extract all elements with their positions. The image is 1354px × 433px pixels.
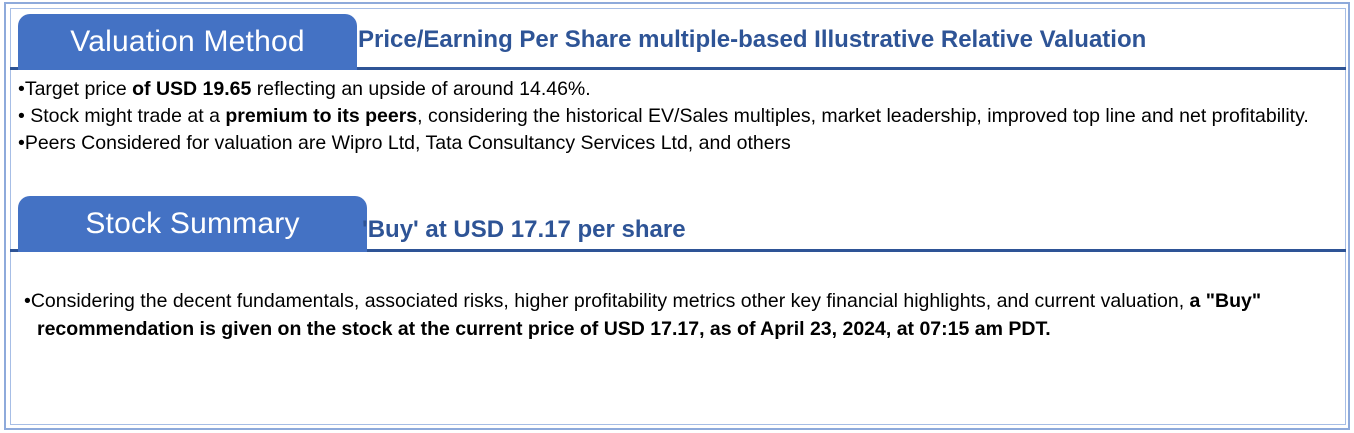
bullet-item: •Considering the decent fundamentals, as… [24, 287, 1332, 343]
bullet-marker-icon: • [18, 105, 25, 127]
bullet-item: •Target price of USD 19.65 reflecting an… [18, 76, 1338, 102]
bullet-marker-icon: • [18, 132, 25, 154]
section-tab-valuation-method: Valuation Method [18, 14, 357, 70]
bullet-text-emphasis: premium to its peers [225, 105, 417, 127]
bullet-text: Stock might trade at a [25, 105, 226, 127]
stock-summary-body: •Considering the decent fundamentals, as… [10, 255, 1346, 425]
bullet-text: reflecting an upside of around 14.46%. [251, 78, 590, 100]
bullet-text: Target price [25, 78, 132, 100]
bullet-item: • Stock might trade at a premium to its … [18, 103, 1338, 129]
stock-summary-title: 'Buy' at USD 17.17 per share [362, 216, 686, 244]
bullet-marker-icon: • [24, 290, 31, 312]
bullet-text: Peers Considered for valuation are Wipro… [25, 132, 791, 154]
valuation-method-body: •Target price of USD 19.65 reflecting an… [10, 72, 1346, 192]
bullet-item: •Peers Considered for valuation are Wipr… [18, 130, 1338, 156]
section-tab-stock-summary: Stock Summary [18, 196, 367, 252]
valuation-summary-card: Valuation Method Price/Earning Per Share… [0, 0, 1354, 433]
bullet-text: Considering the decent fundamentals, ass… [31, 290, 1190, 312]
valuation-method-title: Price/Earning Per Share multiple-based I… [358, 26, 1146, 54]
bullet-marker-icon: • [18, 78, 25, 100]
bullet-text-emphasis: of USD 19.65 [132, 78, 251, 100]
bullet-text: , considering the historical EV/Sales mu… [417, 105, 1309, 127]
